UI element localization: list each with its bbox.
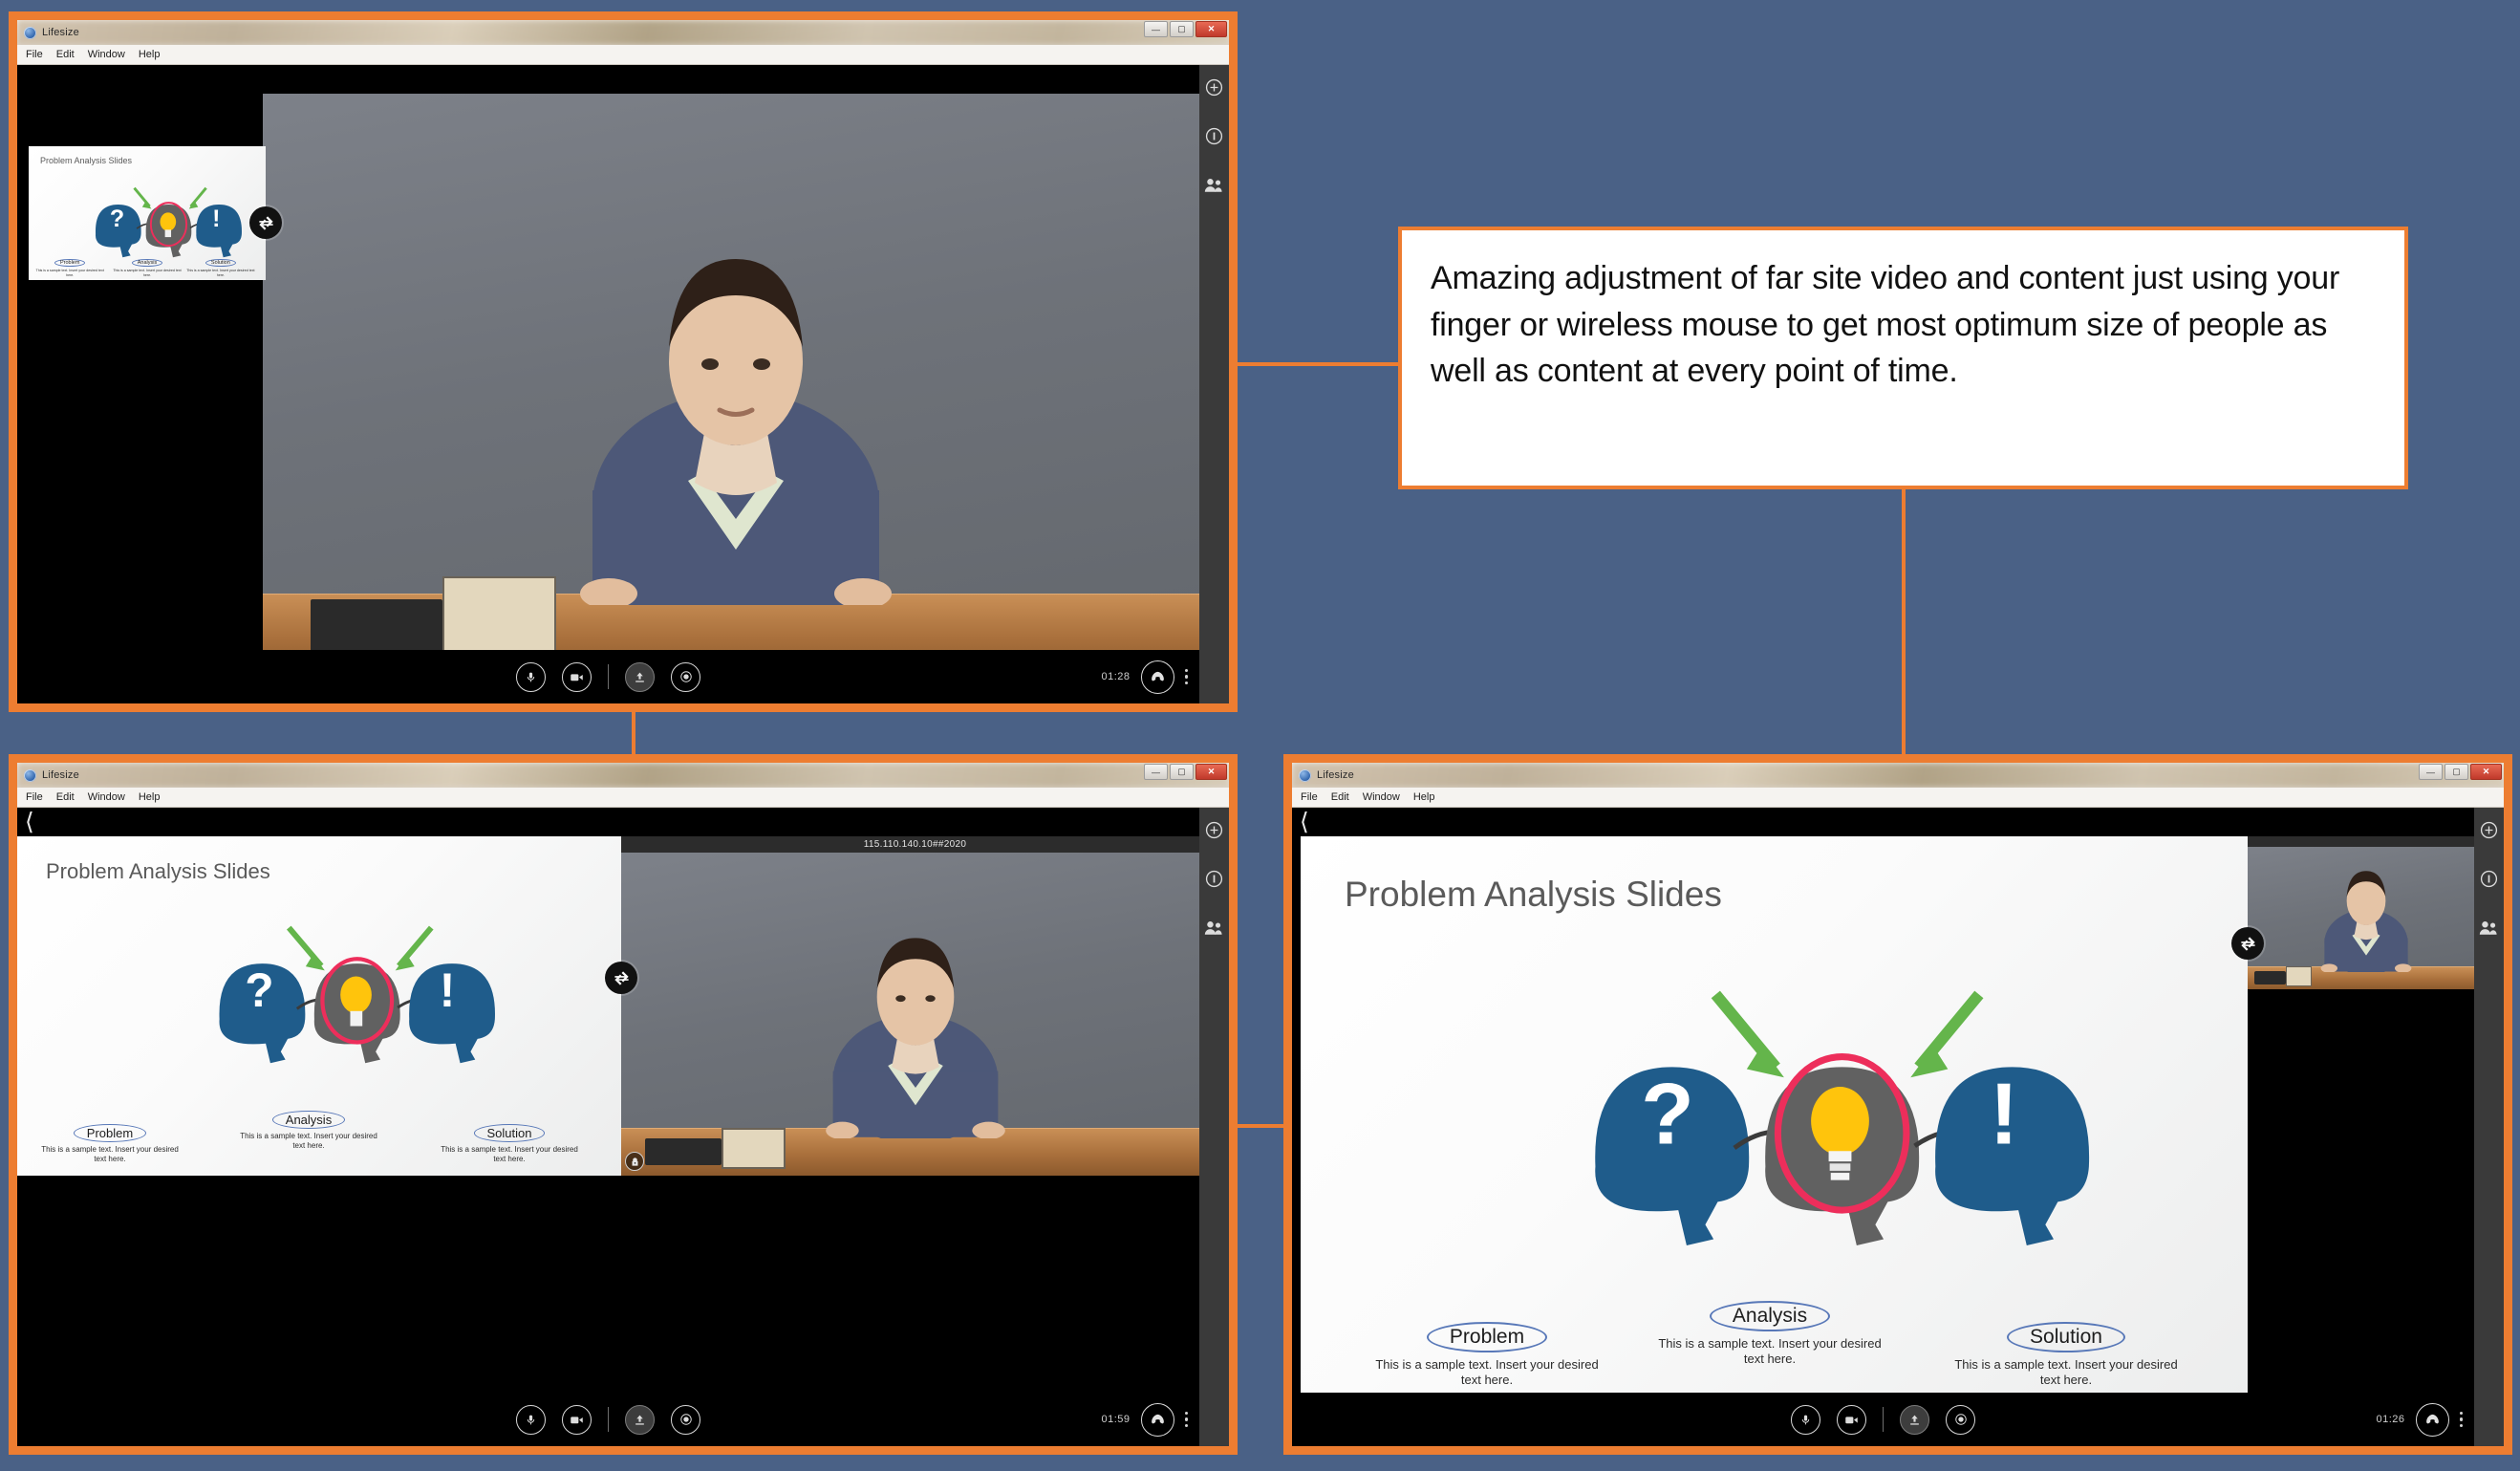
- call-control-bar[interactable]: 01:28: [17, 650, 1199, 703]
- slide-graphic: ? !: [1320, 928, 2219, 1281]
- svg-text:?: ?: [1641, 1067, 1694, 1163]
- window-controls[interactable]: — ▢ ✕: [2419, 764, 2502, 780]
- slide-node-label: Solution: [2007, 1322, 2125, 1352]
- maximize-button[interactable]: ▢: [1170, 764, 1194, 780]
- slide-node-body: This is a sample text. Insert your desir…: [1368, 1357, 1606, 1389]
- far-site-video-thumbnail[interactable]: [2248, 836, 2484, 989]
- camera-icon[interactable]: [562, 1405, 592, 1435]
- control-divider: [608, 1407, 609, 1432]
- more-options-icon[interactable]: [2460, 1412, 2464, 1428]
- microphone-icon[interactable]: [516, 662, 546, 692]
- menu-item-window[interactable]: Window: [88, 791, 125, 803]
- slide-node-body: This is a sample text. Insert your desir…: [438, 1145, 581, 1164]
- presenter-figure: [825, 899, 1006, 1138]
- slide-title: Problem Analysis Slides: [46, 859, 270, 884]
- window-title: Lifesize: [42, 769, 79, 781]
- side-rail[interactable]: [2474, 808, 2504, 1446]
- title-bar-backdrop: [1292, 763, 2504, 788]
- present-icon[interactable]: [625, 1405, 655, 1435]
- present-icon[interactable]: [625, 662, 655, 692]
- hangup-icon[interactable]: [1141, 1403, 1174, 1437]
- svg-text:?: ?: [110, 206, 124, 232]
- window-title: Lifesize: [42, 27, 79, 38]
- close-button[interactable]: ✕: [1195, 21, 1227, 37]
- desk-phone: [311, 599, 443, 652]
- menu-bar[interactable]: File Edit Window Help: [17, 788, 1229, 808]
- control-divider: [1883, 1407, 1884, 1432]
- maximize-button[interactable]: ▢: [2445, 764, 2468, 780]
- minimize-button[interactable]: —: [2419, 764, 2443, 780]
- slide-node-label: Solution: [474, 1124, 546, 1142]
- desk-placard: [442, 576, 556, 658]
- slide-node-body: This is a sample text. Insert your desir…: [38, 1145, 182, 1164]
- desk-placard: [2286, 966, 2312, 986]
- slide-node-body: This is a sample text. Insert your desir…: [237, 1132, 380, 1151]
- slide-node-label: Problem: [1427, 1322, 1547, 1352]
- record-icon[interactable]: [671, 662, 700, 692]
- content-slide-main[interactable]: Problem Analysis Slides ? !: [1301, 836, 2248, 1405]
- desk-phone: [2254, 971, 2285, 984]
- callout-text: Amazing adjustment of far site video and…: [1431, 255, 2376, 395]
- hangup-icon[interactable]: [2416, 1403, 2449, 1437]
- menu-bar[interactable]: File Edit Window Help: [1292, 788, 2504, 808]
- camera-icon[interactable]: [1837, 1405, 1866, 1435]
- menu-item-file[interactable]: File: [26, 791, 43, 803]
- far-site-video[interactable]: [263, 94, 1209, 675]
- lifesize-window-top-left[interactable]: Lifesize — ▢ ✕ File Edit Window Help: [9, 11, 1238, 712]
- info-icon[interactable]: [2480, 870, 2498, 888]
- participants-icon[interactable]: [2479, 919, 2499, 937]
- svg-text:!: !: [1990, 1067, 2018, 1163]
- slide-node-problem: Problem This is a sample text. Insert yo…: [38, 1124, 182, 1164]
- call-status-group: 01:26: [2376, 1403, 2463, 1437]
- slide-node-body: This is a sample text. Insert your desir…: [1947, 1357, 2186, 1389]
- menu-item-edit[interactable]: Edit: [56, 49, 75, 60]
- call-control-bar[interactable]: 01:26: [1292, 1393, 2474, 1446]
- lifesize-window-bottom-left[interactable]: Lifesize — ▢ ✕ File Edit Window Help ⟨ P…: [9, 754, 1238, 1455]
- callout-box: Amazing adjustment of far site video and…: [1398, 227, 2408, 489]
- stage-top-bar: ⟨: [17, 808, 1229, 836]
- slide-node-solution: Solution This is a sample text. Insert y…: [185, 251, 256, 277]
- svg-text:?: ?: [245, 963, 273, 1017]
- remote-ip-label: [2248, 836, 2484, 847]
- present-icon[interactable]: [1900, 1405, 1929, 1435]
- record-icon[interactable]: [1946, 1405, 1975, 1435]
- app-logo-icon: [24, 27, 36, 39]
- back-chevron-icon[interactable]: ⟨: [17, 811, 34, 834]
- slide-node-problem: Problem This is a sample text. Insert yo…: [34, 251, 105, 277]
- lifesize-window-bottom-right[interactable]: Lifesize — ▢ ✕ File Edit Window Help ⟨ P…: [1283, 754, 2512, 1455]
- menu-item-help[interactable]: Help: [139, 791, 161, 803]
- title-bar-backdrop: [17, 763, 1229, 788]
- connector-top-to-callout: [1235, 362, 1403, 366]
- add-call-icon[interactable]: [2480, 821, 2498, 839]
- desk-placard: [722, 1128, 786, 1169]
- window-controls[interactable]: — ▢ ✕: [1144, 764, 1227, 780]
- menu-item-help[interactable]: Help: [1413, 791, 1435, 803]
- control-divider: [608, 664, 609, 689]
- close-button[interactable]: ✕: [1195, 764, 1227, 780]
- more-options-icon[interactable]: [1185, 1412, 1189, 1428]
- swap-layout-icon[interactable]: [605, 962, 637, 994]
- title-bar[interactable]: Lifesize — ▢ ✕: [1292, 763, 2504, 788]
- slide-node-label: Analysis: [132, 259, 162, 267]
- menu-item-file[interactable]: File: [1301, 791, 1318, 803]
- window-controls[interactable]: — ▢ ✕: [1144, 21, 1227, 37]
- slide-node-analysis: Analysis This is a sample text. Insert y…: [237, 1111, 380, 1151]
- more-options-icon[interactable]: [1185, 669, 1189, 685]
- call-stage: Problem Analysis Slides ? ! P: [17, 65, 1229, 703]
- add-call-icon[interactable]: [1205, 78, 1223, 97]
- stage-top-bar: ⟨: [1292, 808, 2504, 836]
- presenter-figure: [578, 194, 894, 605]
- menu-bar[interactable]: File Edit Window Help: [17, 45, 1229, 65]
- close-button[interactable]: ✕: [2470, 764, 2502, 780]
- minimize-button[interactable]: —: [1144, 21, 1168, 37]
- back-chevron-icon[interactable]: ⟨: [1292, 811, 1309, 834]
- slide-node-solution: Solution This is a sample text. Insert y…: [1947, 1322, 2186, 1389]
- call-stage: ⟨ Problem Analysis Slides ? !: [17, 808, 1229, 1446]
- slide-node-analysis: Analysis This is a sample text. Insert y…: [1650, 1301, 1889, 1368]
- slide-node-label: Problem: [54, 259, 85, 267]
- side-rail[interactable]: [1199, 65, 1229, 703]
- info-icon[interactable]: [1205, 127, 1223, 145]
- menu-item-window[interactable]: Window: [1363, 791, 1400, 803]
- content-slide-half[interactable]: Problem Analysis Slides ? ! P: [17, 836, 621, 1176]
- minimize-button[interactable]: —: [1144, 764, 1168, 780]
- content-slide-thumbnail[interactable]: Problem Analysis Slides ? ! P: [29, 146, 266, 280]
- window-title: Lifesize: [1317, 769, 1354, 781]
- slide-node-body: This is a sample text. Insert your desir…: [112, 269, 183, 277]
- add-call-icon[interactable]: [1205, 821, 1223, 839]
- side-rail[interactable]: [1199, 808, 1229, 1446]
- slide-node-body: This is a sample text. Insert your desir…: [34, 269, 105, 277]
- app-logo-icon: [1299, 769, 1311, 782]
- slide-node-body: This is a sample text. Insert your desir…: [185, 269, 256, 277]
- swap-layout-icon[interactable]: [249, 206, 282, 239]
- call-timer: 01:26: [2376, 1414, 2404, 1425]
- info-icon[interactable]: [1205, 870, 1223, 888]
- presenter-figure: [2320, 852, 2412, 972]
- call-stage: ⟨ Problem Analysis Slides ? !: [1292, 808, 2504, 1446]
- call-timer: 01:28: [1101, 671, 1130, 682]
- svg-text:!: !: [212, 206, 220, 232]
- title-bar[interactable]: Lifesize — ▢ ✕: [17, 20, 1229, 45]
- app-logo-icon: [24, 769, 36, 782]
- slide-node-problem: Problem This is a sample text. Insert yo…: [1368, 1322, 1606, 1389]
- far-site-video[interactable]: 115.110.140.10##2020: [621, 836, 1209, 1176]
- menu-item-edit[interactable]: Edit: [56, 791, 75, 803]
- slide-node-label: Analysis: [272, 1111, 345, 1129]
- encryption-lock-icon: [625, 1152, 644, 1171]
- record-icon[interactable]: [671, 1405, 700, 1435]
- call-timer: 01:59: [1101, 1414, 1130, 1425]
- title-bar-backdrop: [17, 20, 1229, 45]
- menu-item-help[interactable]: Help: [139, 49, 161, 60]
- swap-layout-icon[interactable]: [2231, 927, 2264, 960]
- slide-graphic: ? !: [27, 886, 607, 1083]
- slide-node-label: Problem: [74, 1124, 146, 1142]
- call-status-group: 01:59: [1101, 1403, 1188, 1437]
- microphone-icon[interactable]: [1791, 1405, 1820, 1435]
- connector-top-to-bottom-left: [632, 712, 635, 754]
- microphone-icon[interactable]: [516, 1405, 546, 1435]
- menu-item-edit[interactable]: Edit: [1331, 791, 1349, 803]
- slide-node-label: Analysis: [1710, 1301, 1830, 1331]
- slide-node-solution: Solution This is a sample text. Insert y…: [438, 1124, 581, 1164]
- slide-node-analysis: Analysis This is a sample text. Insert y…: [112, 251, 183, 277]
- connector-callout-to-bottom-right: [1902, 489, 1906, 767]
- slide-node-label: Solution: [205, 259, 236, 267]
- stage-top-bar: [17, 65, 1229, 94]
- menu-item-file[interactable]: File: [26, 49, 43, 60]
- desk-phone: [645, 1138, 722, 1165]
- participants-icon[interactable]: [1204, 176, 1224, 194]
- camera-icon[interactable]: [562, 662, 592, 692]
- hangup-icon[interactable]: [1141, 660, 1174, 694]
- remote-ip-label: 115.110.140.10##2020: [621, 836, 1209, 853]
- slide-node-body: This is a sample text. Insert your desir…: [1650, 1336, 1889, 1368]
- maximize-button[interactable]: ▢: [1170, 21, 1194, 37]
- svg-text:!: !: [440, 963, 456, 1017]
- participants-icon[interactable]: [1204, 919, 1224, 937]
- call-status-group: 01:28: [1101, 660, 1188, 694]
- call-control-bar[interactable]: 01:59: [17, 1393, 1199, 1446]
- slide-title: Problem Analysis Slides: [1345, 875, 1722, 915]
- menu-item-window[interactable]: Window: [88, 49, 125, 60]
- title-bar[interactable]: Lifesize — ▢ ✕: [17, 763, 1229, 788]
